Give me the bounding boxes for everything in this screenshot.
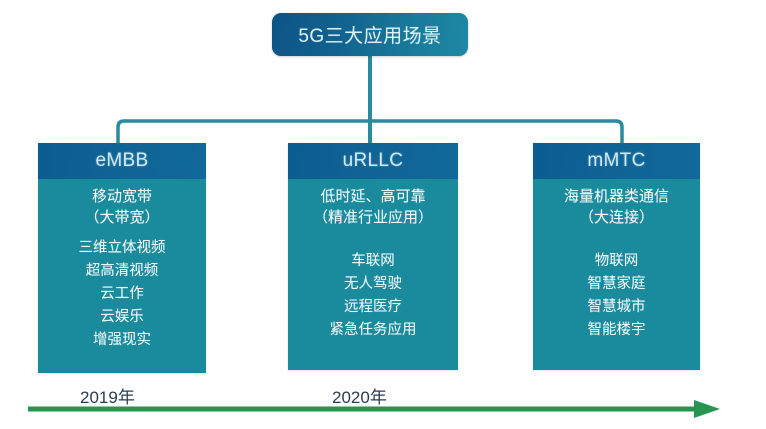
column-mmtc-summary-line-2: （大连接） [564,207,669,228]
column-urllc-body: 低时延、高可靠 （精准行业应用） 车联网 无人驾驶 远程医疗 紧急任务应用 [288,179,458,370]
column-embb-header: eMBB [38,143,206,179]
diagram-title-node: 5G三大应用场景 [272,13,468,56]
list-item: 智能楼宇 [588,319,646,342]
column-embb-summary-line-1: 移动宽带 [84,186,159,207]
list-item: 远程医疗 [344,296,402,319]
column-mmtc-header-label: mMTC [587,150,645,172]
column-urllc-summary-line-2: （精准行业应用） [313,207,433,228]
column-mmtc-list: 物联网 智慧家庭 智慧城市 智能楼宇 [539,250,694,342]
column-mmtc-body: 海量机器类通信 （大连接） 物联网 智慧家庭 智慧城市 智能楼宇 [533,179,700,370]
list-item: 紧急任务应用 [330,319,417,342]
diagram-canvas: 5G三大应用场景 eMBB 移动宽带 （大带宽） 三维立体视频 超高清视频 云工… [0,0,766,429]
column-embb: eMBB 移动宽带 （大带宽） 三维立体视频 超高清视频 云工作 云娱乐 增强现… [38,143,206,373]
column-mmtc-summary: 海量机器类通信 （大连接） [564,186,669,228]
column-urllc-summary: 低时延、高可靠 （精准行业应用） [313,186,433,228]
column-urllc-summary-line-1: 低时延、高可靠 [313,186,433,207]
column-urllc-header-label: uRLLC [343,150,404,172]
list-item: 智慧家庭 [588,273,646,296]
column-mmtc-header: mMTC [533,143,700,179]
list-item: 云工作 [100,283,144,306]
timeline-arrow [26,398,732,420]
list-item: 云娱乐 [100,306,144,329]
column-mmtc-summary-line-1: 海量机器类通信 [564,186,669,207]
column-urllc-list: 车联网 无人驾驶 远程医疗 紧急任务应用 [294,250,452,342]
column-embb-summary: 移动宽带 （大带宽） [84,186,159,228]
column-urllc: uRLLC 低时延、高可靠 （精准行业应用） 车联网 无人驾驶 远程医疗 紧急任… [288,143,458,370]
column-embb-body: 移动宽带 （大带宽） 三维立体视频 超高清视频 云工作 云娱乐 增强现实 [38,179,206,373]
list-item: 增强现实 [93,329,151,352]
page-title: 5G三大应用场景 [298,21,441,48]
list-item: 无人驾驶 [344,273,402,296]
column-embb-list: 三维立体视频 超高清视频 云工作 云娱乐 增强现实 [44,237,200,352]
list-item: 车联网 [351,250,395,273]
list-item: 物联网 [595,250,639,273]
column-urllc-header: uRLLC [288,143,458,179]
list-item: 三维立体视频 [79,237,166,260]
column-embb-summary-line-2: （大带宽） [84,207,159,228]
column-embb-header-label: eMBB [96,150,149,172]
column-mmtc: mMTC 海量机器类通信 （大连接） 物联网 智慧家庭 智慧城市 智能楼宇 [533,143,700,370]
list-item: 智慧城市 [588,296,646,319]
list-item: 超高清视频 [86,260,159,283]
